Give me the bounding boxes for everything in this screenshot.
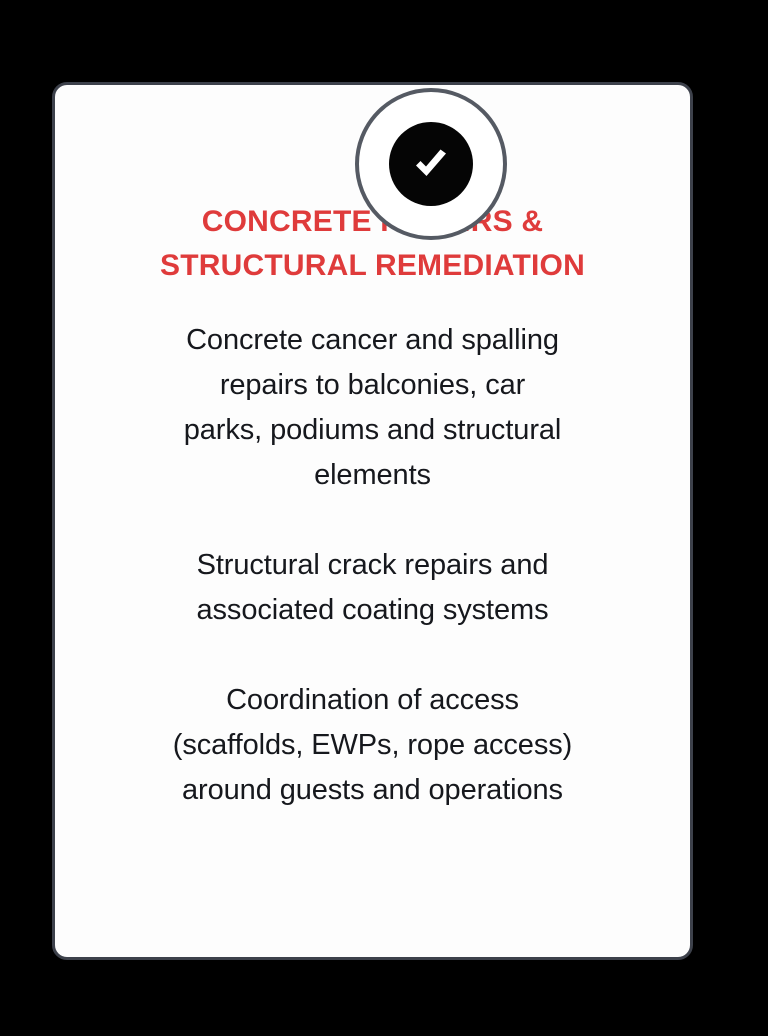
check-circle-badge [355,88,507,240]
body-paragraph: Coordination of access (scaffolds, EWPs,… [81,678,664,813]
card-body: Concrete cancer and spalling repairs to … [81,318,664,813]
service-card: CONCRETE REPAIRS & STRUCTURAL REMEDIATIO… [52,82,693,960]
body-paragraph: Structural crack repairs and associated … [81,543,664,633]
body-paragraph: Concrete cancer and spalling repairs to … [81,318,664,498]
check-circle-icon [389,122,473,206]
